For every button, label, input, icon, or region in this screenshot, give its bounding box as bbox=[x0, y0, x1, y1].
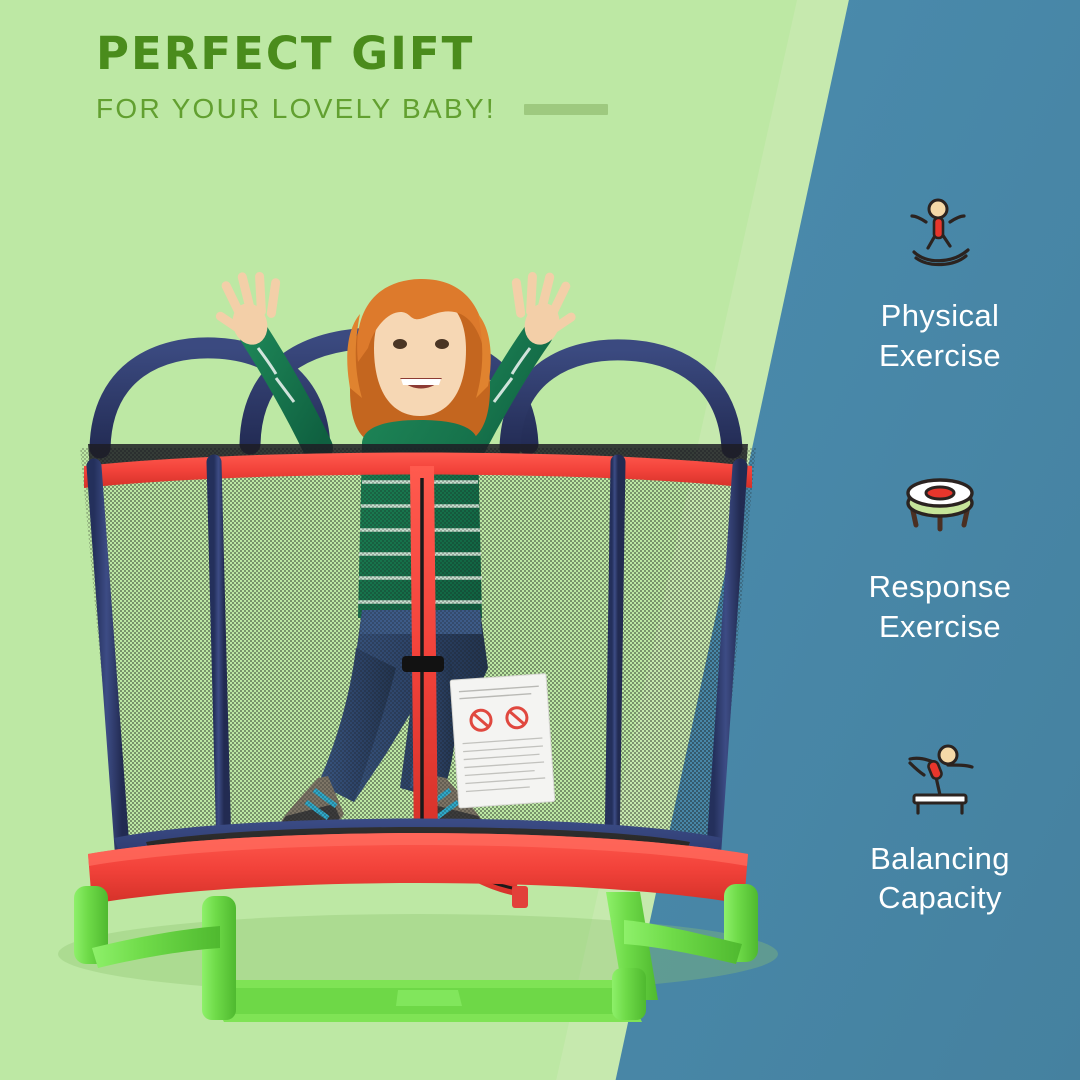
balance-beam-icon bbox=[892, 739, 988, 819]
feature-label: Balancing Capacity bbox=[870, 839, 1010, 918]
child-eye-left bbox=[393, 339, 407, 349]
feature-physical-exercise: Physical Exercise bbox=[820, 196, 1060, 375]
white-warning-label bbox=[450, 674, 555, 808]
feature-balancing-capacity: Balancing Capacity bbox=[820, 739, 1060, 918]
divider-dash bbox=[524, 104, 608, 115]
page-subtitle: FOR YOUR LOVELY BABY! bbox=[96, 94, 496, 125]
feature-label: Response Exercise bbox=[869, 567, 1012, 646]
zipper-pull bbox=[512, 886, 528, 908]
page-title: PERFECT GIFT bbox=[96, 30, 716, 77]
product-image bbox=[18, 148, 818, 1028]
subtitle-row: FOR YOUR LOVELY BABY! bbox=[96, 94, 716, 125]
door-clip-upper bbox=[402, 656, 444, 672]
product-marketing-banner: PERFECT GIFT FOR YOUR LOVELY BABY! bbox=[0, 0, 1080, 1080]
trampoline-jumping-icon bbox=[892, 196, 988, 276]
child-eye-right bbox=[435, 339, 449, 349]
feature-label: Physical Exercise bbox=[879, 296, 1001, 375]
feature-response-exercise: Response Exercise bbox=[820, 467, 1060, 646]
headline-block: PERFECT GIFT FOR YOUR LOVELY BABY! bbox=[96, 30, 716, 125]
feature-list: Physical Exercise Response Exercise bbox=[820, 196, 1060, 918]
mini-trampoline-icon bbox=[892, 467, 988, 547]
